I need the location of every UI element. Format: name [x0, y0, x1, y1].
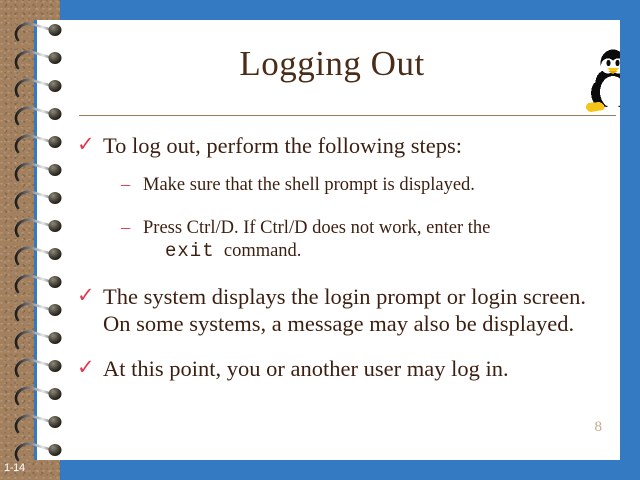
checkmark-icon: ✓ — [77, 354, 95, 381]
slide-canvas: Logging Out — [0, 0, 640, 480]
sub-bullet-item-2: – Press Ctrl/D. If Ctrl/D does not work,… — [77, 217, 607, 263]
exit-command-code: exit — [165, 240, 215, 262]
checkmark-icon: ✓ — [77, 131, 95, 158]
dash-icon: – — [121, 174, 130, 197]
sub-bullet-item-2-second-line: exit command. — [143, 240, 607, 263]
page-number: 8 — [595, 419, 603, 436]
bullet-item-1: ✓ To log out, perform the following step… — [77, 132, 607, 159]
bullet-item-2-label: The system displays the login prompt or … — [103, 284, 586, 336]
sub-bullet-item-1: – Make sure that the shell prompt is dis… — [77, 174, 607, 197]
footer-code-label: 1-14 — [4, 462, 25, 474]
sub-bullet-item-2-label: Press Ctrl/D. If Ctrl/D does not work, e… — [143, 218, 490, 238]
bullet-item-3: ✓ At this point, you or another user may… — [77, 355, 607, 382]
slide-body: ✓ To log out, perform the following step… — [77, 132, 607, 384]
bullet-item-1-label: To log out, perform the following steps: — [103, 133, 462, 158]
bullet-item-3-label: At this point, you or another user may l… — [103, 356, 509, 381]
slide-paper-panel: Logging Out — [34, 20, 620, 460]
linux-tux-penguin-icon — [582, 47, 620, 117]
title-divider-rule — [79, 115, 616, 116]
sub-bullet-item-2-trailing-label: command. — [224, 241, 302, 261]
bullet-item-2: ✓ The system displays the login prompt o… — [77, 283, 607, 337]
page-title: Logging Out — [97, 42, 567, 86]
dash-icon: – — [121, 217, 130, 240]
sub-bullet-item-1-label: Make sure that the shell prompt is displ… — [143, 175, 475, 195]
checkmark-icon: ✓ — [77, 282, 95, 309]
